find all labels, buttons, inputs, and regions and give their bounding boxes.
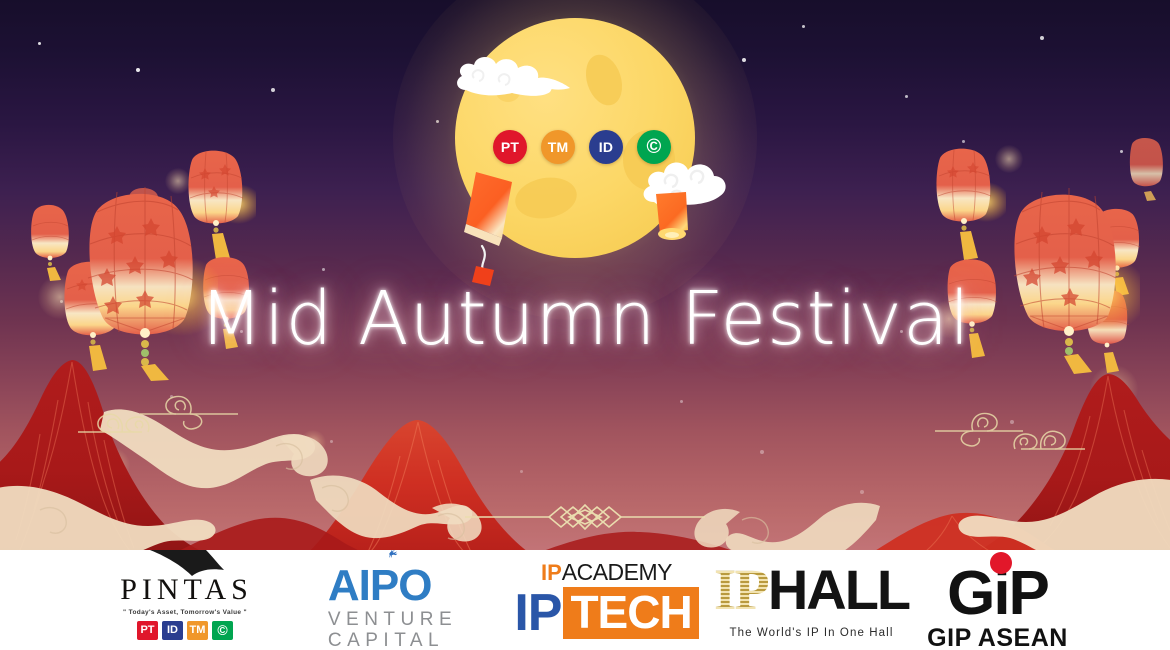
iptech-row: IP TECH (514, 587, 698, 639)
pintas-trademark-badge: TM (187, 621, 208, 640)
sky-lantern-small-right-1 (928, 140, 1006, 264)
pintas-eagle-icon (148, 548, 226, 582)
sky-lantern-moon-left (450, 166, 560, 286)
aipo-venture-capital-logo[interactable]: AIPO VENTURE CAPITAL (278, 550, 508, 650)
sky-lantern-moon-right (646, 190, 708, 254)
copyright-badge[interactable]: © (637, 130, 671, 164)
ip-academy-row: IP ACADEMY (541, 561, 672, 584)
page-title: Mid Autumn Festival (0, 276, 1170, 362)
pegasus-icon (349, 550, 437, 558)
pintas-copyright-badge: © (212, 621, 233, 640)
partner-logo-bar: PINTAS " Today's Asset, Tomorrow's Value… (0, 550, 1170, 650)
mid-autumn-festival-poster: PT TM ID © (0, 0, 1170, 650)
iphall-ip: IP (714, 561, 768, 619)
ip-academy-iptech-logo[interactable]: IP ACADEMY IP TECH (508, 550, 706, 650)
patent-badge-label: PT (501, 139, 519, 155)
iptech-ip: IP (514, 587, 561, 639)
pintas-design-badge: ID (162, 621, 183, 640)
gip-red-dot-icon (990, 552, 1012, 574)
pintas-design-badge-label: ID (167, 624, 178, 636)
industrial-design-badge-label: ID (599, 139, 613, 155)
industrial-design-badge[interactable]: ID (589, 130, 623, 164)
aipo-wordmark: AIPO (328, 564, 457, 608)
pintas-trademark-badge-label: TM (190, 624, 206, 636)
iphall-tagline: The World's IP In One Hall (730, 627, 894, 639)
copyright-badge-label: © (647, 136, 662, 159)
ip-academy-word: ACADEMY (562, 561, 672, 584)
ip-badge-row: PT TM ID © (493, 130, 671, 164)
aipo-line2: CAPITAL (328, 631, 457, 650)
pintas-logo[interactable]: PINTAS " Today's Asset, Tomorrow's Value… (93, 550, 278, 650)
ornamental-gold-divider (465, 500, 705, 534)
iphall-hall: HALL (768, 562, 909, 618)
iphall-logo[interactable]: IP HALL The World's IP In One Hall (706, 550, 918, 650)
iptech-tech: TECH (563, 587, 698, 639)
trademark-badge[interactable]: TM (541, 130, 575, 164)
iphall-wordmark-row: IP HALL (714, 561, 909, 619)
pintas-copyright-badge-label: © (217, 622, 227, 638)
patent-badge[interactable]: PT (493, 130, 527, 164)
pintas-tagline: " Today's Asset, Tomorrow's Value " (123, 609, 247, 616)
pintas-patent-badge-label: PT (140, 624, 154, 636)
pintas-patent-badge: PT (137, 621, 158, 640)
gip-asean-logo[interactable]: GiP GIP ASEAN (918, 550, 1078, 650)
aipo-line1: VENTURE (328, 610, 457, 629)
ip-academy-ip: IP (541, 562, 562, 584)
trademark-badge-label: TM (548, 139, 569, 155)
pintas-badge-row: PT ID TM © (137, 621, 233, 640)
gip-asean-text: GIP ASEAN (927, 626, 1068, 650)
